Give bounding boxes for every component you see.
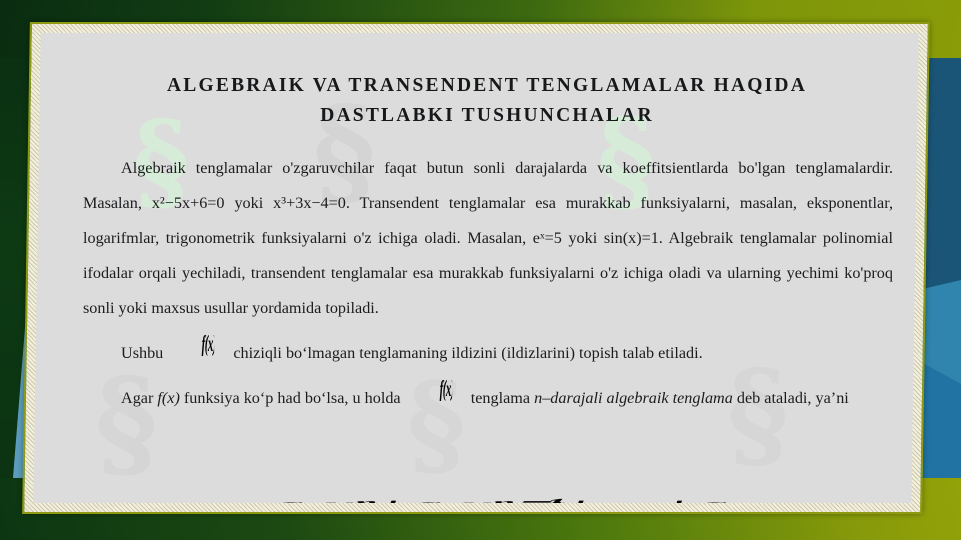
inline-formula-fx-equals-zero-1: f(x)=0 — [182, 324, 214, 363]
content-card-surface: § § § § § § ALGEBRAIK VA TRANSENDENT TEN… — [33, 33, 918, 503]
slide-title: ALGEBRAIK VA TRANSENDENT TENGLAMALAR HAQ… — [77, 71, 897, 131]
paragraph-ushbu-prefix: Ushbu — [121, 344, 163, 362]
paragraph-definition-text: Algebraik tenglamalar o'zgaruvchilar faq… — [83, 159, 893, 317]
paragraph-agar-tail: deb ataladi, ya’ni — [737, 389, 849, 407]
paragraph-agar-italic-n-darajali: n–darajali algebraik tenglama — [534, 389, 733, 407]
paragraph-ushbu: Ushbu f(x)=0 chiziqli bo‘lmagan tenglama… — [83, 326, 893, 371]
display-equation-glyphs: a₀xⁿ+a₁xⁿ⁻¹+…+aₙ₋₁x+aₙ=0 — [269, 497, 769, 503]
slide-title-line-2: DASTLABKI TUSHUNCHALAR — [77, 101, 897, 131]
paragraph-definition: Algebraik tenglamalar o'zgaruvchilar faq… — [83, 151, 893, 326]
inline-formula-fx-equals-zero-2: f(x)=0 — [420, 369, 452, 408]
paragraph-agar-prefix: Agar — [121, 389, 153, 407]
paragraph-ushbu-suffix: chiziqli bo‘lmagan tenglamaning ildizini… — [233, 344, 702, 362]
display-equation-block: a₀xⁿ+a₁xⁿ⁻¹+…+aₙ₋₁x+aₙ=0 — [269, 477, 769, 503]
paragraph-agar-italic-fx: f(x) — [157, 389, 179, 407]
paragraph-agar-middle: funksiya ko‘p had bo‘lsa, u holda — [184, 389, 401, 407]
presentation-slide: § § § § § § ALGEBRAIK VA TRANSENDENT TEN… — [0, 0, 961, 540]
paragraph-agar-after-formula: tenglama — [471, 389, 530, 407]
slide-body: Algebraik tenglamalar o'zgaruvchilar faq… — [83, 151, 893, 416]
slide-title-line-1: ALGEBRAIK VA TRANSENDENT TENGLAMALAR HAQ… — [77, 71, 897, 101]
content-card: § § § § § § ALGEBRAIK VA TRANSENDENT TEN… — [22, 22, 930, 514]
paragraph-agar: Agar f(x) funksiya ko‘p had bo‘lsa, u ho… — [83, 371, 893, 416]
